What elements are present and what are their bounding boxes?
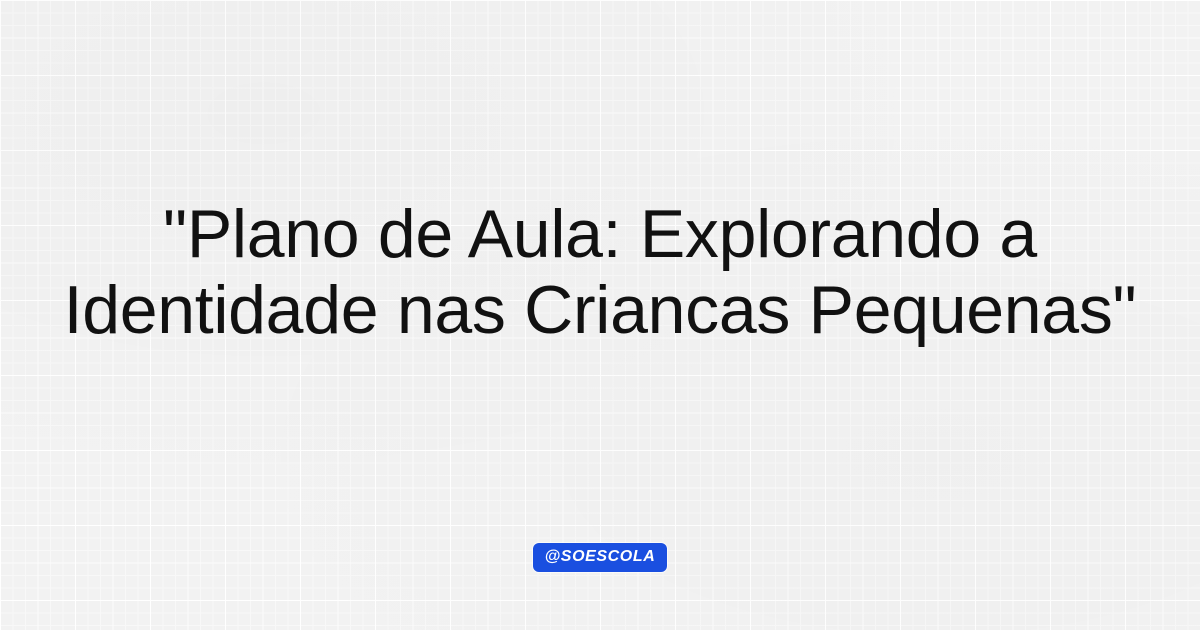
brand-badge-row: @SOESCOLA [0, 543, 1200, 572]
title-line-1: "Plano de Aula: Explorando a [24, 196, 1176, 272]
social-card-canvas: "Plano de Aula: Explorando a Identidade … [0, 0, 1200, 630]
brand-handle-badge[interactable]: @SOESCOLA [533, 543, 668, 572]
title-line-2: Identidade nas Criancas Pequenas" [24, 272, 1176, 348]
page-title: "Plano de Aula: Explorando a Identidade … [0, 196, 1200, 348]
